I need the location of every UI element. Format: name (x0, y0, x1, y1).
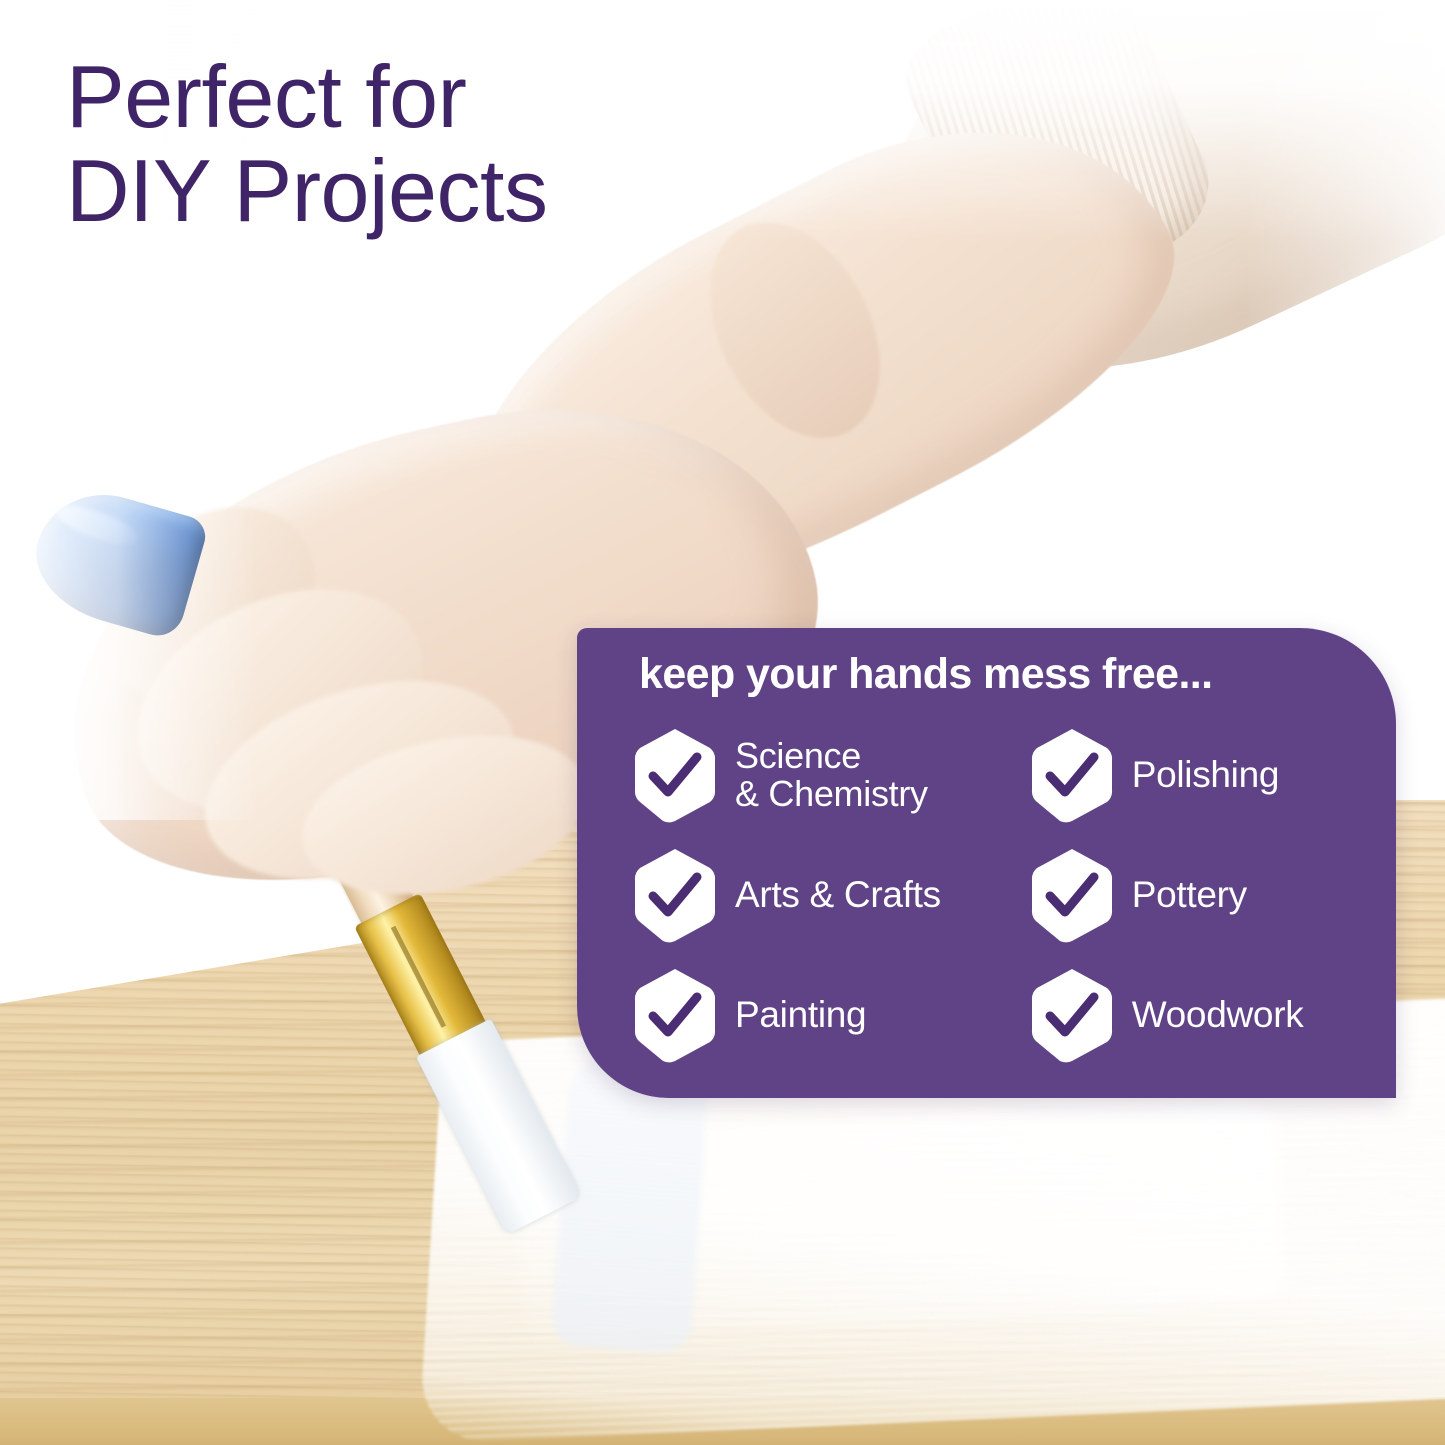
feature-panel-title: keep your hands mess free... (639, 650, 1213, 699)
feature-item-painting: Painting (633, 966, 1020, 1064)
feature-item-pottery: Pottery (1030, 846, 1373, 944)
check-hexagon-icon (1030, 846, 1114, 944)
feature-label: Pottery (1132, 876, 1247, 915)
check-hexagon-icon (633, 846, 717, 944)
feature-item-woodwork: Woodwork (1030, 966, 1373, 1064)
feature-label: Polishing (1132, 756, 1279, 795)
feature-label: Woodwork (1132, 996, 1304, 1035)
check-hexagon-icon (1030, 966, 1114, 1064)
feature-label: Arts & Crafts (735, 876, 941, 915)
feature-label: Science & Chemistry (735, 737, 928, 813)
feature-column-right: Polishing Pottery (1030, 726, 1373, 1064)
feature-label: Painting (735, 996, 866, 1035)
check-hexagon-icon (633, 726, 717, 824)
product-feature-image: Perfect for DIY Projects keep your hands… (0, 0, 1445, 1445)
check-hexagon-icon (633, 966, 717, 1064)
feature-item-arts-crafts: Arts & Crafts (633, 846, 1020, 944)
feature-columns: Science & Chemistry Arts & Crafts (633, 726, 1373, 1064)
feature-item-polishing: Polishing (1030, 726, 1373, 824)
feature-panel: keep your hands mess free... Science & C… (577, 628, 1396, 1098)
page-title: Perfect for DIY Projects (66, 50, 706, 238)
feature-column-left: Science & Chemistry Arts & Crafts (633, 726, 1020, 1064)
feature-item-science-chemistry: Science & Chemistry (633, 726, 1020, 824)
check-hexagon-icon (1030, 726, 1114, 824)
